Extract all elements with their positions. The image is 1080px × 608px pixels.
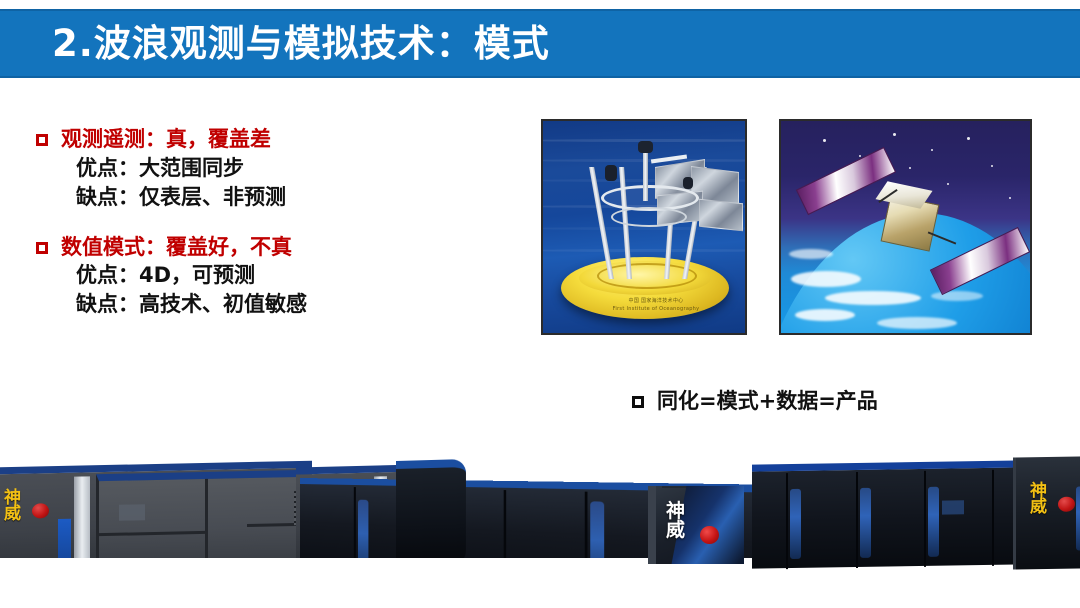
assimilation-caption: 同化=模式+数据=产品 (632, 388, 878, 415)
bullet-list: 观测遥测：真，覆盖差 优点：大范围同步 缺点：仅表层、非预测 数值模式：覆盖好，… (36, 126, 396, 319)
bullet-subline: 优点：大范围同步 (76, 154, 396, 183)
sunway-logo-icon: 神 威 (4, 489, 48, 530)
ocean-buoy-photo: 中国 国家海洋技术中心 First Institute of Oceanogra… (541, 119, 747, 335)
bullet-heading-observation: 观测遥测：真，覆盖差 (36, 126, 396, 154)
supercomputer-branded-endcap: 神 威 (648, 486, 744, 564)
bullet-subline: 优点：4D，可预测 (76, 261, 396, 290)
page-title: 2.波浪观测与模拟技术：模式 (52, 25, 550, 62)
bullet-heading-numerical-model: 数值模式：覆盖好，不真 (36, 234, 396, 262)
square-bullet-icon (632, 396, 644, 408)
assimilation-caption-text: 同化=模式+数据=产品 (657, 388, 878, 415)
bullet-group-numerical-model: 数值模式：覆盖好，不真 优点：4D，可预测 缺点：高技术、初值敏感 (36, 234, 396, 320)
buoy-beacon-icon (638, 141, 653, 153)
bullet-subline: 缺点：高技术、初值敏感 (76, 290, 396, 319)
buoy-sensor-icon (605, 165, 617, 181)
solar-panel-icon (796, 147, 896, 215)
satellite-photo (779, 119, 1032, 335)
slide-title-bar: 2.波浪观测与模拟技术：模式 (0, 9, 1080, 78)
buoy-hull-label: 中国 国家海洋技术中心 First Institute of Oceanogra… (603, 298, 709, 313)
bullet-subline: 缺点：仅表层、非预测 (76, 183, 396, 212)
bullet-group-observation: 观测遥测：真，覆盖差 优点：大范围同步 缺点：仅表层、非预测 (36, 126, 396, 212)
supercomputer-cabinet-right-end: 神 威 (1013, 456, 1080, 569)
supercomputer-cabinet-row-right: 神 威 (752, 459, 1080, 568)
supercomputer-row-endcap (396, 459, 466, 567)
buoy-sensor-icon (683, 177, 693, 189)
buoy-instrument-tower (595, 163, 699, 279)
bullet-heading-text: 观测遥测：真，覆盖差 (61, 126, 271, 154)
square-bullet-icon (36, 242, 48, 254)
sunway-seal-icon (700, 526, 719, 544)
sunway-logo-icon: 神 威 (666, 502, 685, 539)
bullet-heading-text: 数值模式：覆盖好，不真 (61, 234, 292, 262)
slide-root: 2.波浪观测与模拟技术：模式 观测遥测：真，覆盖差 优点：大范围同步 缺点：仅表… (0, 0, 1080, 608)
sunway-logo-icon: 神 威 (1030, 483, 1074, 524)
square-bullet-icon (36, 134, 48, 146)
